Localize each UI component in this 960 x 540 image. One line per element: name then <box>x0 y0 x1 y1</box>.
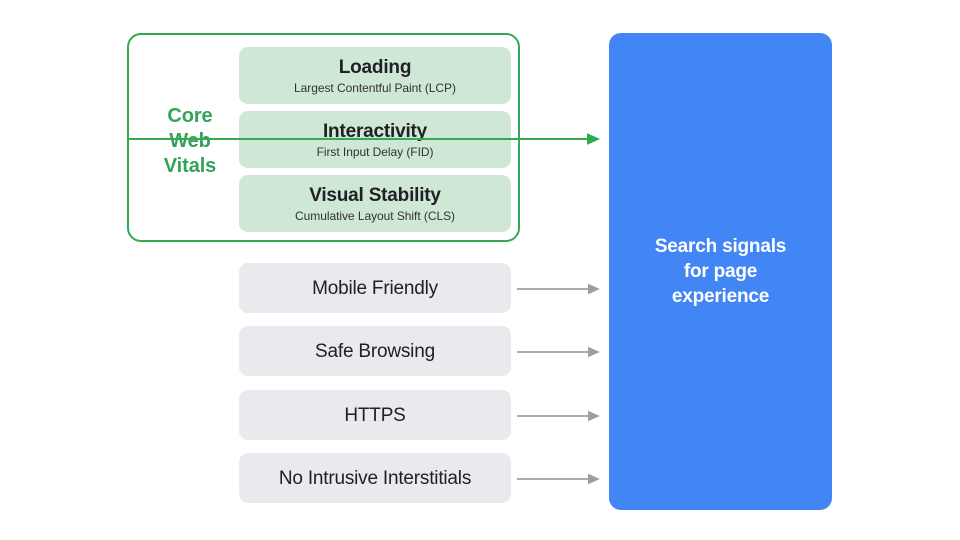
signal-label: Safe Browsing <box>315 340 435 363</box>
core-web-vitals-group-label: Core Web Vitals <box>154 104 226 179</box>
diagram-canvas: Core Web Vitals Loading Largest Contentf… <box>0 0 960 540</box>
signal-label: No Intrusive Interstitials <box>279 467 471 490</box>
metric-subtitle: Cumulative Layout Shift (CLS) <box>295 208 455 224</box>
signal-card-no-intrusive-interstitials[interactable]: No Intrusive Interstitials <box>239 453 511 503</box>
core-web-vitals-label-line-2: Web <box>154 129 226 154</box>
metric-subtitle: First Input Delay (FID) <box>317 144 434 160</box>
metric-title: Visual Stability <box>309 184 441 207</box>
signal-label: HTTPS <box>344 404 405 427</box>
metric-card-visual-stability[interactable]: Visual Stability Cumulative Layout Shift… <box>239 175 511 232</box>
outcome-panel-label: Search signals for page experience <box>641 234 800 309</box>
metric-card-loading[interactable]: Loading Largest Contentful Paint (LCP) <box>239 47 511 104</box>
signal-card-mobile-friendly[interactable]: Mobile Friendly <box>239 263 511 313</box>
signal-card-safe-browsing[interactable]: Safe Browsing <box>239 326 511 376</box>
metric-subtitle: Largest Contentful Paint (LCP) <box>294 80 456 96</box>
signal-label: Mobile Friendly <box>312 277 438 300</box>
metric-title: Loading <box>339 56 411 79</box>
outcome-panel-search-signals[interactable]: Search signals for page experience <box>609 33 832 510</box>
signal-card-https[interactable]: HTTPS <box>239 390 511 440</box>
metric-card-interactivity[interactable]: Interactivity First Input Delay (FID) <box>239 111 511 168</box>
core-web-vitals-label-line-1: Core <box>154 104 226 129</box>
metric-title: Interactivity <box>323 120 427 143</box>
core-web-vitals-label-line-3: Vitals <box>154 154 226 179</box>
